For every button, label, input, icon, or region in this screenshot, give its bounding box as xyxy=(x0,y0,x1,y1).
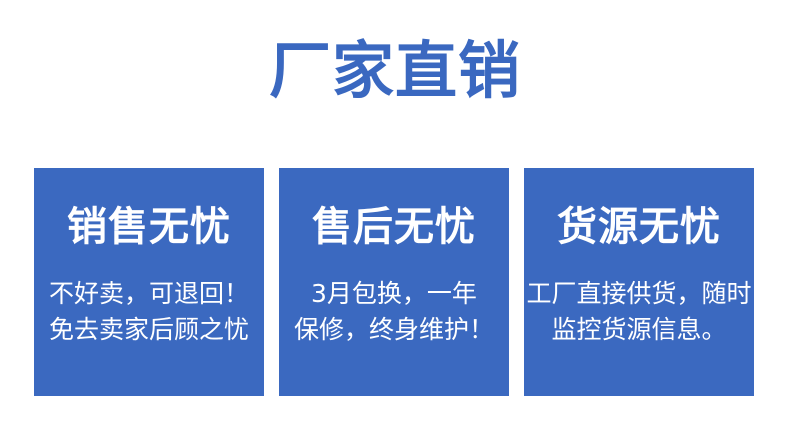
feature-panel-sales: 销售无忧 不好卖，可退回！ 免去卖家后顾之忧 xyxy=(34,168,264,396)
feature-panel-supply: 货源无忧 工厂直接供货，随时 监控货源信息。 xyxy=(524,168,754,396)
panel-heading-supply: 货源无忧 xyxy=(557,204,721,250)
panel-body-line: 免去卖家后顾之忧 xyxy=(49,312,249,348)
panel-body-line: 监控货源信息。 xyxy=(526,312,751,348)
panel-heading-sales: 销售无忧 xyxy=(67,204,231,250)
panel-body-supply: 工厂直接供货，随时 监控货源信息。 xyxy=(526,276,751,348)
feature-panel-group: 销售无忧 不好卖，可退回！ 免去卖家后顾之忧 售后无忧 3月包换，一年 保修，终… xyxy=(34,168,754,396)
panel-body-after-sales: 3月包换，一年 保修，终身维护！ xyxy=(294,276,494,348)
panel-body-sales: 不好卖，可退回！ 免去卖家后顾之忧 xyxy=(49,276,249,348)
panel-heading-after-sales: 售后无忧 xyxy=(312,204,476,250)
promo-banner: 厂家直销 销售无忧 不好卖，可退回！ 免去卖家后顾之忧 售后无忧 3月包换，一年… xyxy=(0,0,790,447)
panel-body-line: 工厂直接供货，随时 xyxy=(526,276,751,312)
page-title: 厂家直销 xyxy=(0,34,790,108)
panel-body-line: 3月包换，一年 xyxy=(294,276,494,312)
panel-body-line: 保修，终身维护！ xyxy=(294,312,494,348)
feature-panel-after-sales: 售后无忧 3月包换，一年 保修，终身维护！ xyxy=(279,168,509,396)
panel-body-line: 不好卖，可退回！ xyxy=(49,276,249,312)
